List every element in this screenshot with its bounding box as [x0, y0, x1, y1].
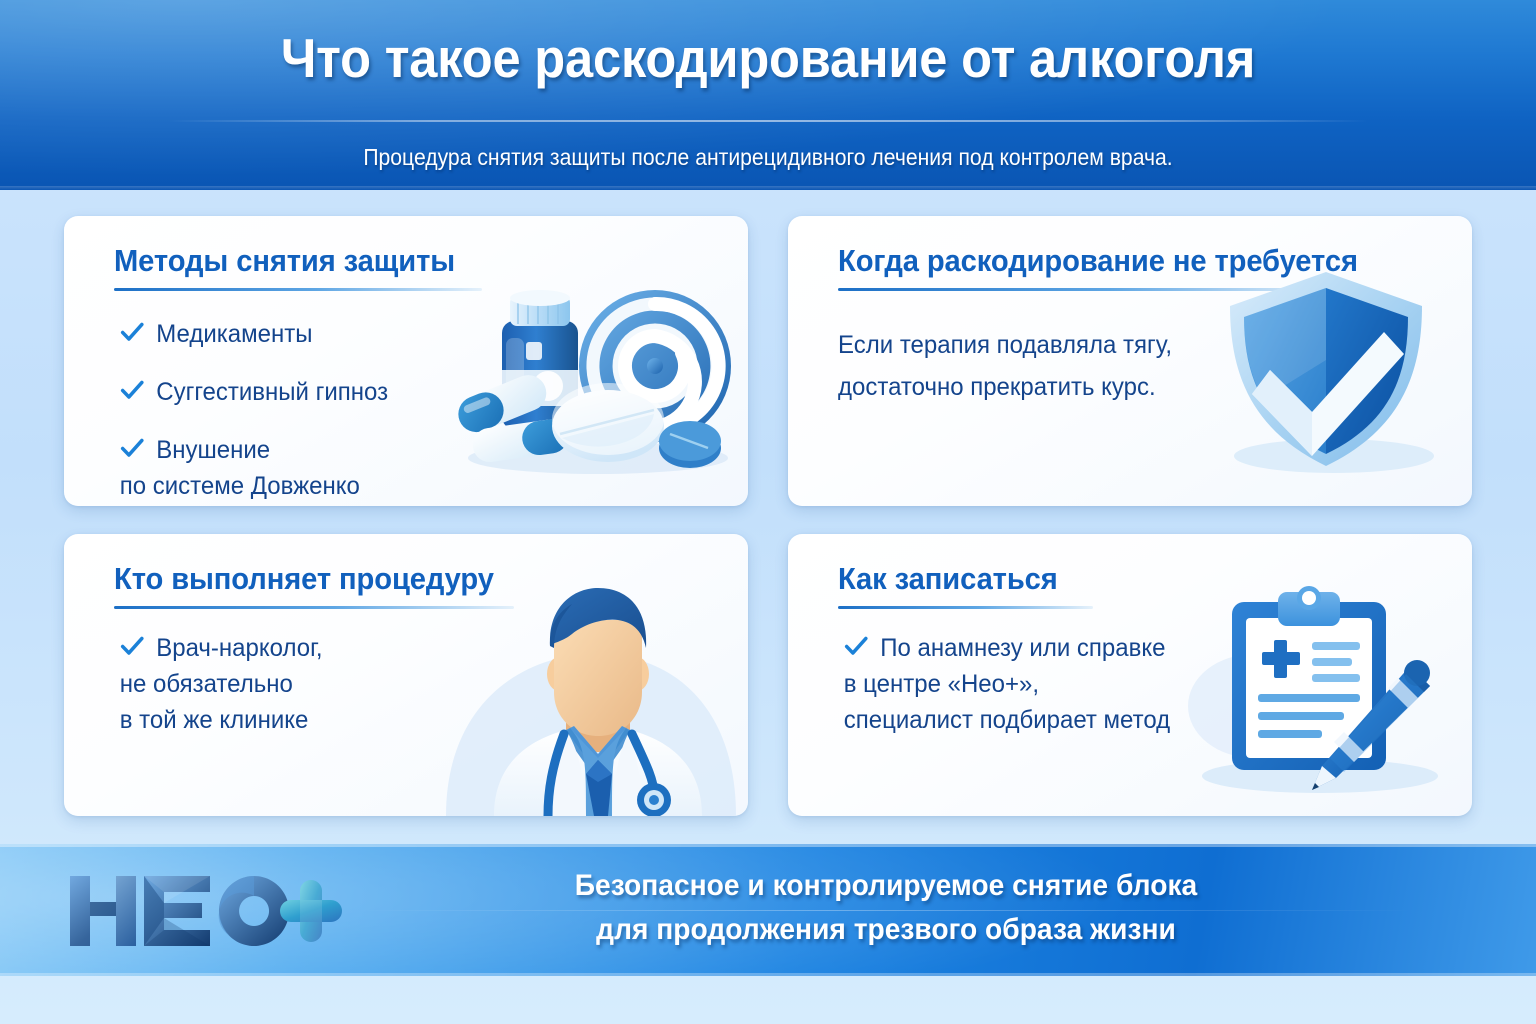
- card-title-underline: [114, 606, 514, 609]
- card-grid: Методы снятия защиты Медикаменты: [64, 216, 1472, 816]
- list-item-line: Врач-нарколог,: [156, 630, 459, 666]
- page-title: Что такое раскодирование от алкоголя: [61, 26, 1474, 90]
- list-item-line: специалист подбирает метод: [844, 702, 1222, 738]
- bullet-list: По анамнезу или справке в центре «Нео+»,…: [838, 630, 1238, 738]
- card-title: Когда раскодирование не требуется: [838, 242, 1358, 280]
- list-item-line: Внушение: [156, 432, 459, 468]
- paragraph-line: Если терапия подавляла тягу,: [838, 324, 1241, 366]
- bullet-list: Врач-нарколог, не обязательно в той же к…: [114, 630, 474, 738]
- paragraph-line: достаточно прекратить курс.: [838, 366, 1241, 408]
- footer-tagline-line: для продолжения трезвого образа жизни: [388, 908, 1384, 952]
- footer-tagline-line: Безопасное и контролируемое снятие блока: [388, 864, 1384, 908]
- header-divider: [168, 120, 1368, 122]
- footer-banner: Безопасное и контролируемое снятие блока…: [0, 844, 1536, 976]
- check-icon: [120, 633, 145, 659]
- list-item: Суггестивный гипноз: [114, 374, 460, 410]
- header-banner: Что такое раскодирование от алкоголя Про…: [0, 0, 1536, 190]
- list-item: Медикаменты: [114, 316, 460, 352]
- list-item-line: Медикаменты: [156, 316, 459, 352]
- card-title-underline: [114, 288, 482, 291]
- card-paragraph: Если терапия подавляла тягу, достаточно …: [838, 324, 1241, 408]
- list-item-text: Медикаменты: [156, 316, 459, 352]
- brand-logo: [64, 870, 348, 952]
- pills-and-spiral-illustration: [438, 258, 738, 488]
- check-icon: [120, 377, 145, 403]
- list-item: По анамнезу или справке в центре «Нео+»,…: [838, 630, 1222, 738]
- card-title: Как записаться: [838, 560, 1058, 598]
- list-item-text: Суггестивный гипноз: [156, 374, 459, 410]
- list-item-text: Врач-нарколог, не обязательно в той же к…: [156, 630, 459, 738]
- card-body: По анамнезу или справке в центре «Нео+»,…: [838, 630, 1238, 738]
- check-icon: [120, 319, 145, 345]
- list-item-line: По анамнезу или справке: [880, 630, 1222, 666]
- card-title-underline: [838, 288, 1332, 291]
- infographic-poster: Что такое раскодирование от алкоголя Про…: [0, 0, 1536, 1024]
- card-body: Если терапия подавляла тягу, достаточно …: [838, 324, 1258, 408]
- list-item: Врач-нарколог, не обязательно в той же к…: [114, 630, 460, 738]
- card-title: Кто выполняет процедуру: [114, 560, 494, 598]
- card-when-not-needed: Когда раскодирование не требуется Если т…: [788, 216, 1472, 506]
- card-how-to-book: Как записаться По анамнезу или справке в…: [788, 534, 1472, 816]
- card-title-underline: [838, 606, 1093, 609]
- card-body: Врач-нарколог, не обязательно в той же к…: [114, 630, 474, 738]
- bullet-list: Медикаменты Суггестивный гипноз: [114, 316, 474, 504]
- check-icon: [844, 633, 869, 659]
- card-who-performs: Кто выполняет процедуру Врач-нарколог, н…: [64, 534, 748, 816]
- page-subtitle: Процедура снятия защиты после антирециди…: [61, 142, 1474, 172]
- list-item-line: по системе Довженко: [120, 468, 460, 504]
- footer-tagline: Безопасное и контролируемое снятие блока…: [388, 864, 1384, 952]
- card-methods: Методы снятия защиты Медикаменты: [64, 216, 748, 506]
- card-body: Медикаменты Суггестивный гипноз: [114, 316, 474, 504]
- list-item-text: Внушение по системе Довженко: [156, 432, 459, 504]
- list-item-line: не обязательно: [120, 666, 460, 702]
- check-icon: [120, 435, 145, 461]
- list-item-line: Суггестивный гипноз: [156, 374, 459, 410]
- list-item-line: в той же клинике: [120, 702, 460, 738]
- list-item: Внушение по системе Довженко: [114, 432, 460, 504]
- card-title: Методы снятия защиты: [114, 242, 455, 280]
- list-item-text: По анамнезу или справке в центре «Нео+»,…: [880, 630, 1222, 738]
- list-item-line: в центре «Нео+»,: [844, 666, 1222, 702]
